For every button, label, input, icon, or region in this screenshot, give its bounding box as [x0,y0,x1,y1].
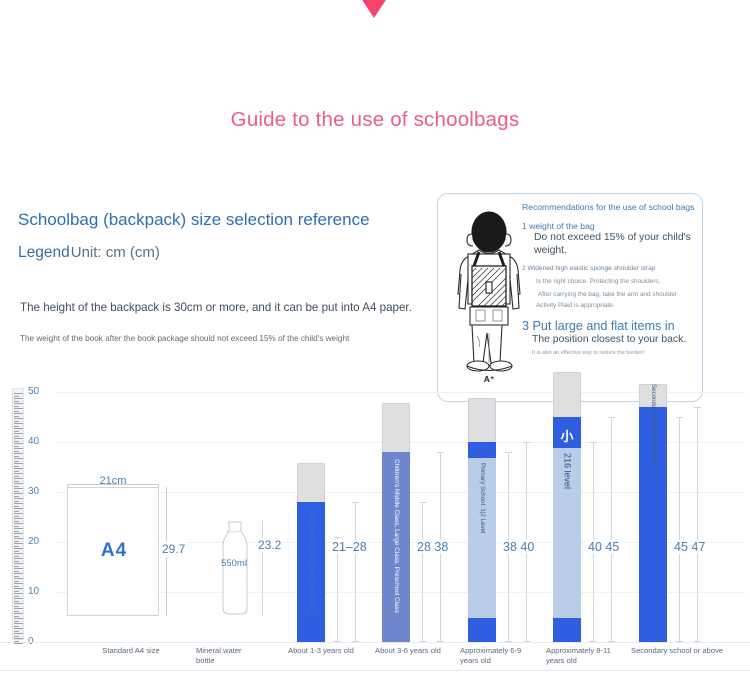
bag-chinese-mark: 小 [553,426,581,445]
y-axis-tick-label: 10 [28,586,39,597]
ruler-tick [14,563,23,564]
ruler-tick [14,586,19,587]
ruler-tick [14,566,19,567]
ruler-tick [14,411,19,412]
a4-inner-label: A4 [68,540,160,562]
recommendation-card: A⁺ Recommendations for the use of school… [437,193,703,402]
bag-bar[interactable]: Young heavy small class middle class [297,380,325,642]
rec-item-3-title: 3 Put large and flat items in [522,319,700,333]
ruler-tick [14,583,23,584]
ruler-tick [14,423,23,424]
x-axis-label: Mineral water bottle [196,646,256,667]
ruler-tick [14,506,19,507]
ruler-tick [14,611,19,612]
ruler-tick [14,633,23,634]
ruler-tick [14,398,23,399]
a4-sheet: A4 [67,487,159,616]
bag-bar[interactable]: 216 level小 [553,380,581,642]
legend-label: Legend [18,244,70,262]
ruler-tick [14,496,19,497]
page-title: Guide to the use of schoolbags [0,108,750,132]
x-axis-label: Secondary school or above [631,646,743,656]
section-title: Schoolbag (backpack) size selection refe… [18,210,370,230]
ruler-tick [14,548,23,549]
ruler-tick [14,613,23,614]
ruler-tick [14,466,19,467]
y-axis-tick-label: 30 [28,486,39,497]
ruler-tick [14,636,19,637]
ruler-tick [14,631,19,632]
bag-label-band [553,448,581,618]
rec-item-3-body: The position closest to your back. [532,334,700,346]
ruler-tick [14,556,19,557]
ruler-tick [14,623,23,624]
ruler-tick [14,418,23,419]
bag-dimension-line-min [679,417,680,642]
ruler-tick [14,596,19,597]
rec-item-1-title: 1 weight of the bag [522,221,700,231]
rec-item-2-title: 2 Widened high elastic sponge shoulder s… [522,265,700,272]
ruler-tick [14,546,19,547]
ruler-tick [14,573,23,574]
bottle-height-dimension [262,520,263,616]
bag-bar[interactable]: Secondary schools and adults [639,380,667,642]
bag-range-label: 21–28 [330,540,369,554]
x-axis-label: Approximately 8-11 years old [546,646,622,667]
schoolbag-size-chart: 01020304050 21cm A4 29.7 550ml 23.2 Youn… [0,380,750,660]
note-secondary: The weight of the book after the book pa… [20,334,349,343]
ruler-tick [14,608,23,609]
ruler-tick [14,471,19,472]
rec-item-1-body: Do not exceed 15% of your child's weight… [534,232,700,257]
ruler-tick [14,598,23,599]
ruler-tick [14,436,19,437]
ruler-tick [14,448,23,449]
ruler-tick [14,626,19,627]
rec-item-2-sub-3: Activity Plaid is appropriate. [536,302,700,311]
bag-expansion-section [382,403,410,452]
ruler-tick [14,528,23,529]
ruler-tick [14,498,23,499]
ruler-tick [14,521,19,522]
bag-range-label: 28 38 [415,540,450,554]
x-axis-label-baseline [0,670,750,671]
ruler-tick [14,443,23,444]
bag-dimension-line-max [611,417,612,642]
bag-range-label: 40 45 [586,540,621,554]
ruler-tick [14,493,23,494]
ruler-tick [14,533,23,534]
ruler-tick [14,396,19,397]
x-axis-label: Standard A4 size [76,646,186,656]
ruler-tick [14,503,23,504]
bag-label-band [639,379,667,471]
y-axis-ruler [12,388,24,640]
ruler-tick [14,558,23,559]
ruler-tick [14,431,19,432]
ruler-tick [14,603,23,604]
ruler-tick [14,501,19,502]
y-axis-tick-label: 40 [28,436,39,447]
ruler-tick [14,428,23,429]
legend: Legend Unit: cm (cm) [18,244,160,262]
ruler-tick [14,488,23,489]
bag-label-band [382,454,410,630]
ruler-tick [14,591,19,592]
ruler-tick [14,518,23,519]
ruler-tick [14,588,23,589]
ruler-tick [14,538,23,539]
ruler-tick [14,621,19,622]
chevron-down-icon [353,0,395,18]
ruler-tick [14,461,19,462]
infographic-root: Guide to the use of schoolbags Schoolbag… [0,0,750,699]
ruler-tick [14,508,23,509]
ruler-tick [14,441,19,442]
bottle-volume-label: 550ml [212,558,256,569]
y-axis-tick-label: 20 [28,536,39,547]
recommendation-text: Recommendations for the use of school ba… [522,202,700,356]
ruler-tick [14,416,19,417]
ruler-tick [14,523,23,524]
ruler-tick [14,456,19,457]
ruler-tick [14,478,23,479]
rec-item-3-sub-1: It is also an effective way to reduce th… [532,350,700,356]
ruler-tick [14,576,19,577]
bag-expansion-section [297,463,325,502]
ruler-tick [14,618,23,619]
ruler-tick [14,568,23,569]
ruler-tick [14,628,23,629]
ruler-tick [14,543,23,544]
x-axis-label: About 1-3 years old [288,646,358,656]
ruler-tick [14,426,19,427]
bag-dimension-line-max [355,502,356,642]
ruler-tick [14,606,19,607]
ruler-tick [14,406,19,407]
bottle-height-label: 23.2 [256,538,283,552]
ruler-tick [14,593,23,594]
ruler-tick [14,581,19,582]
ruler-tick [14,638,23,639]
ruler-tick [14,561,19,562]
bag-range-label: 45 47 [672,540,707,554]
ruler-tick [14,446,19,447]
ruler-tick [14,421,19,422]
ruler-tick [14,473,23,474]
ruler-tick [14,468,23,469]
ruler-tick [14,486,19,487]
ruler-tick [14,578,23,579]
ruler-tick [14,553,23,554]
child-with-backpack-illustration: A⁺ [446,208,532,390]
x-axis-label: About 3-6 years old [375,646,445,656]
ruler-tick [14,483,23,484]
bag-bar[interactable]: Children's Middle Class, Large Class, Pr… [382,380,410,642]
ruler-tick [14,601,19,602]
bag-dimension-line-min [422,502,423,642]
ruler-tick [14,458,23,459]
recommendation-heading: Recommendations for the use of school ba… [522,202,700,213]
bag-range-label: 38 40 [501,540,536,554]
ruler-tick [14,476,19,477]
bag-dimension-line-max [697,407,698,642]
ruler-tick [14,481,19,482]
ruler-tick [14,516,19,517]
ruler-tick [14,433,23,434]
note-primary: The height of the backpack is 30cm or mo… [20,301,412,314]
bag-expansion-section [468,398,496,442]
bag-bar[interactable]: Primary School: 1|2 Level [468,380,496,642]
ruler-tick [14,643,23,644]
y-axis-tick-label: 50 [28,386,39,397]
ruler-tick [14,403,23,404]
x-axis-label: Approximately 6-9 years old [460,646,536,667]
x-axis-line [0,642,750,643]
ruler-tick [14,541,19,542]
ruler-tick [14,408,23,409]
ruler-tick [14,438,23,439]
ruler-tick [14,616,19,617]
ruler-tick [14,571,19,572]
bag-expansion-section [553,372,581,417]
bag-label-band [297,504,325,630]
a4-height-label: 29.7 [160,541,187,557]
ruler-tick [14,491,19,492]
legend-unit: Unit: cm (cm) [71,244,160,261]
ruler-tick [14,463,23,464]
ruler-tick [14,413,23,414]
ruler-tick [14,511,19,512]
ruler-tick [14,526,19,527]
ruler-tick [14,536,19,537]
rec-item-2-sub-1: Is the right choice. Protecting the shou… [536,278,700,285]
bag-label-band [468,458,496,618]
ruler-tick [14,453,23,454]
ruler-tick [14,513,23,514]
rec-item-2-sub-2: After carrying the bag, take the arm and… [538,291,700,298]
ruler-tick [14,401,19,402]
ruler-tick [14,451,19,452]
ruler-tick [14,531,19,532]
ruler-tick [14,551,19,552]
ruler-tick [14,393,23,394]
